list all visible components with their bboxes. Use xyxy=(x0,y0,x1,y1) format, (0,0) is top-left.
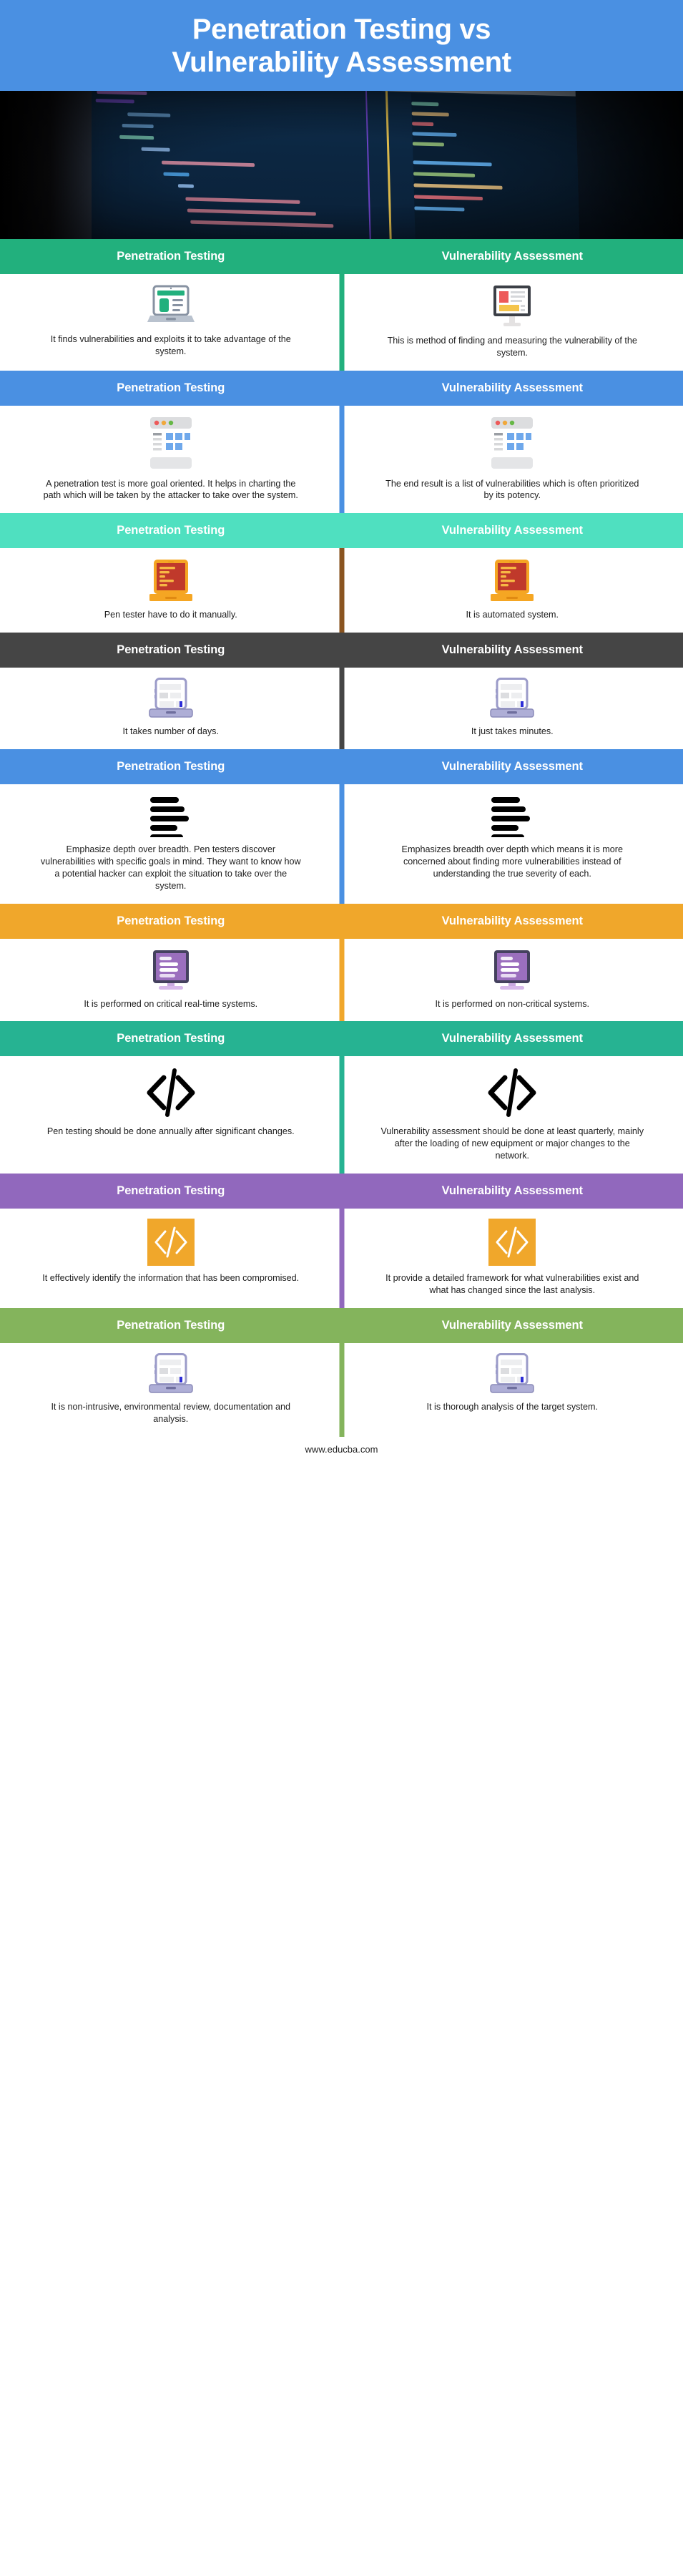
section-header-band: Penetration TestingVulnerability Assessm… xyxy=(0,749,683,784)
section-body: It is non-intrusive, environmental revie… xyxy=(0,1343,683,1437)
section-body: Pen tester have to do it manually. It is… xyxy=(0,548,683,633)
section-body: Pen testing should be done annually afte… xyxy=(0,1056,683,1174)
list-lines-icon xyxy=(147,794,195,837)
cell-right: This is method of finding and measuring … xyxy=(342,274,683,371)
cell-left: It effectively identify the information … xyxy=(0,1209,342,1308)
infographic-page: Penetration Testing vs Vulnerability Ass… xyxy=(0,0,683,1463)
comparison-section-goal-oriented-vs-list: Penetration TestingVulnerability Assessm… xyxy=(0,371,683,514)
comparison-section-identify-vs-framework: Penetration TestingVulnerability Assessm… xyxy=(0,1174,683,1308)
comparison-section-finds-vs-measures: Penetration TestingVulnerability Assessm… xyxy=(0,239,683,371)
purple-laptop-screen-icon xyxy=(148,678,194,719)
section-header-band: Penetration TestingVulnerability Assessm… xyxy=(0,904,683,939)
desktop-monitor-report-icon xyxy=(488,284,536,328)
orange-laptop-code-icon xyxy=(149,558,192,602)
code-brackets-icon xyxy=(145,1066,197,1119)
column-header-left: Penetration Testing xyxy=(0,1319,342,1332)
section-header-band: Penetration TestingVulnerability Assessm… xyxy=(0,1308,683,1343)
cell-right: The end result is a list of vulnerabilit… xyxy=(342,406,683,514)
cell-left-text: Pen tester have to do it manually. xyxy=(104,609,237,621)
column-divider xyxy=(339,274,344,371)
cell-left: It is non-intrusive, environmental revie… xyxy=(0,1343,342,1437)
section-body: A penetration test is more goal oriented… xyxy=(0,406,683,514)
cell-right: It provide a detailed framework for what… xyxy=(342,1209,683,1308)
page-title-line1: Penetration Testing vs xyxy=(192,14,491,45)
section-header-band: Penetration TestingVulnerability Assessm… xyxy=(0,1021,683,1056)
section-header-band: Penetration TestingVulnerability Assessm… xyxy=(0,239,683,274)
cell-right-text: It provide a detailed framework for what… xyxy=(380,1272,645,1297)
section-body: It finds vulnerabilities and exploits it… xyxy=(0,274,683,371)
column-header-right: Vulnerability Assessment xyxy=(342,1319,683,1332)
column-header-left: Penetration Testing xyxy=(0,250,342,263)
cell-right-text: It just takes minutes. xyxy=(471,726,554,738)
cell-right: It is automated system. xyxy=(342,548,683,633)
cell-right-text: Emphasizes breadth over depth which mean… xyxy=(380,844,645,880)
column-header-left: Penetration Testing xyxy=(0,1184,342,1198)
column-header-left: Penetration Testing xyxy=(0,643,342,657)
purple-monitor-list-icon xyxy=(490,949,534,992)
browser-window-dashboard-icon xyxy=(487,416,537,472)
column-header-left: Penetration Testing xyxy=(0,914,342,928)
cell-left-text: It finds vulnerabilities and exploits it… xyxy=(39,333,303,358)
column-header-left: Penetration Testing xyxy=(0,381,342,395)
cell-left-text: It is non-intrusive, environmental revie… xyxy=(39,1401,303,1425)
column-header-right: Vulnerability Assessment xyxy=(342,914,683,928)
cell-right: It is thorough analysis of the target sy… xyxy=(342,1343,683,1437)
hero-vignette xyxy=(0,91,683,239)
cell-right-text: It is performed on non-critical systems. xyxy=(435,998,589,1010)
title-band: Penetration Testing vs Vulnerability Ass… xyxy=(0,0,683,91)
section-body: It is performed on critical real-time sy… xyxy=(0,939,683,1022)
column-header-left: Penetration Testing xyxy=(0,524,342,537)
column-divider xyxy=(339,548,344,633)
column-divider xyxy=(339,668,344,749)
page-title: Penetration Testing vs Vulnerability Ass… xyxy=(14,13,669,79)
section-header-band: Penetration TestingVulnerability Assessm… xyxy=(0,633,683,668)
column-header-right: Vulnerability Assessment xyxy=(342,381,683,395)
comparison-section-manual-vs-automated: Penetration TestingVulnerability Assessm… xyxy=(0,513,683,633)
cell-left: A penetration test is more goal oriented… xyxy=(0,406,342,514)
cell-right-text: It is automated system. xyxy=(466,609,559,621)
column-divider xyxy=(339,784,344,904)
column-header-left: Penetration Testing xyxy=(0,1032,342,1045)
cell-left-text: It effectively identify the information … xyxy=(42,1272,299,1284)
code-brackets-tile-icon xyxy=(147,1219,195,1266)
column-divider xyxy=(339,1209,344,1308)
page-title-line2: Vulnerability Assessment xyxy=(172,47,511,78)
footer: www.educba.com xyxy=(0,1437,683,1463)
cell-right-text: It is thorough analysis of the target sy… xyxy=(427,1401,598,1413)
comparison-section-annually-vs-quarterly: Penetration TestingVulnerability Assessm… xyxy=(0,1021,683,1174)
cell-right: Emphasizes breadth over depth which mean… xyxy=(342,784,683,904)
cell-left: It takes number of days. xyxy=(0,668,342,749)
purple-laptop-screen-icon xyxy=(489,1353,535,1395)
column-divider xyxy=(339,1056,344,1174)
column-header-right: Vulnerability Assessment xyxy=(342,643,683,657)
cell-left-text: A penetration test is more goal oriented… xyxy=(39,478,303,502)
section-header-band: Penetration TestingVulnerability Assessm… xyxy=(0,371,683,406)
code-brackets-tile-icon xyxy=(488,1219,536,1266)
browser-window-dashboard-icon xyxy=(146,416,196,472)
column-divider xyxy=(339,1343,344,1437)
purple-laptop-screen-icon xyxy=(148,1353,194,1395)
cell-left: Emphasize depth over breadth. Pen tester… xyxy=(0,784,342,904)
section-body: It effectively identify the information … xyxy=(0,1209,683,1308)
cell-left: It is performed on critical real-time sy… xyxy=(0,939,342,1022)
laptop-mobile-app-icon xyxy=(147,284,195,327)
cell-right-text: Vulnerability assessment should be done … xyxy=(380,1126,645,1162)
column-divider xyxy=(339,406,344,514)
comparison-sections: Penetration TestingVulnerability Assessm… xyxy=(0,239,683,1437)
cell-left: Pen testing should be done annually afte… xyxy=(0,1056,342,1174)
section-header-band: Penetration TestingVulnerability Assessm… xyxy=(0,1174,683,1209)
purple-laptop-screen-icon xyxy=(489,678,535,719)
cell-left: Pen tester have to do it manually. xyxy=(0,548,342,633)
cell-right-text: The end result is a list of vulnerabilit… xyxy=(380,478,645,502)
column-header-right: Vulnerability Assessment xyxy=(342,1032,683,1045)
section-header-band: Penetration TestingVulnerability Assessm… xyxy=(0,513,683,548)
section-body: It takes number of days. It just takes m… xyxy=(0,668,683,749)
column-header-right: Vulnerability Assessment xyxy=(342,524,683,537)
comparison-section-critical-vs-noncritical: Penetration TestingVulnerability Assessm… xyxy=(0,904,683,1022)
cell-left-text: It takes number of days. xyxy=(123,726,219,738)
cell-right: Vulnerability assessment should be done … xyxy=(342,1056,683,1174)
column-divider xyxy=(339,939,344,1022)
column-header-right: Vulnerability Assessment xyxy=(342,1184,683,1198)
orange-laptop-code-icon xyxy=(491,558,534,602)
cell-left: It finds vulnerabilities and exploits it… xyxy=(0,274,342,371)
column-header-left: Penetration Testing xyxy=(0,760,342,774)
list-lines-icon xyxy=(488,794,536,837)
section-body: Emphasize depth over breadth. Pen tester… xyxy=(0,784,683,904)
comparison-section-depth-vs-breadth: Penetration TestingVulnerability Assessm… xyxy=(0,749,683,904)
cell-right: It is performed on non-critical systems. xyxy=(342,939,683,1022)
code-brackets-icon xyxy=(486,1066,538,1119)
cell-right-text: This is method of finding and measuring … xyxy=(380,335,645,359)
cell-left-text: Emphasize depth over breadth. Pen tester… xyxy=(39,844,303,892)
column-header-right: Vulnerability Assessment xyxy=(342,250,683,263)
comparison-section-days-vs-minutes: Penetration TestingVulnerability Assessm… xyxy=(0,633,683,749)
hero-image-laptop-code xyxy=(0,91,683,239)
column-header-right: Vulnerability Assessment xyxy=(342,760,683,774)
cell-left-text: Pen testing should be done annually afte… xyxy=(47,1126,295,1138)
cell-left-text: It is performed on critical real-time sy… xyxy=(84,998,257,1010)
purple-monitor-list-icon xyxy=(149,949,193,992)
cell-right: It just takes minutes. xyxy=(342,668,683,749)
footer-url: www.educba.com xyxy=(305,1444,378,1455)
comparison-section-nonintrusive-vs-thorough: Penetration TestingVulnerability Assessm… xyxy=(0,1308,683,1437)
